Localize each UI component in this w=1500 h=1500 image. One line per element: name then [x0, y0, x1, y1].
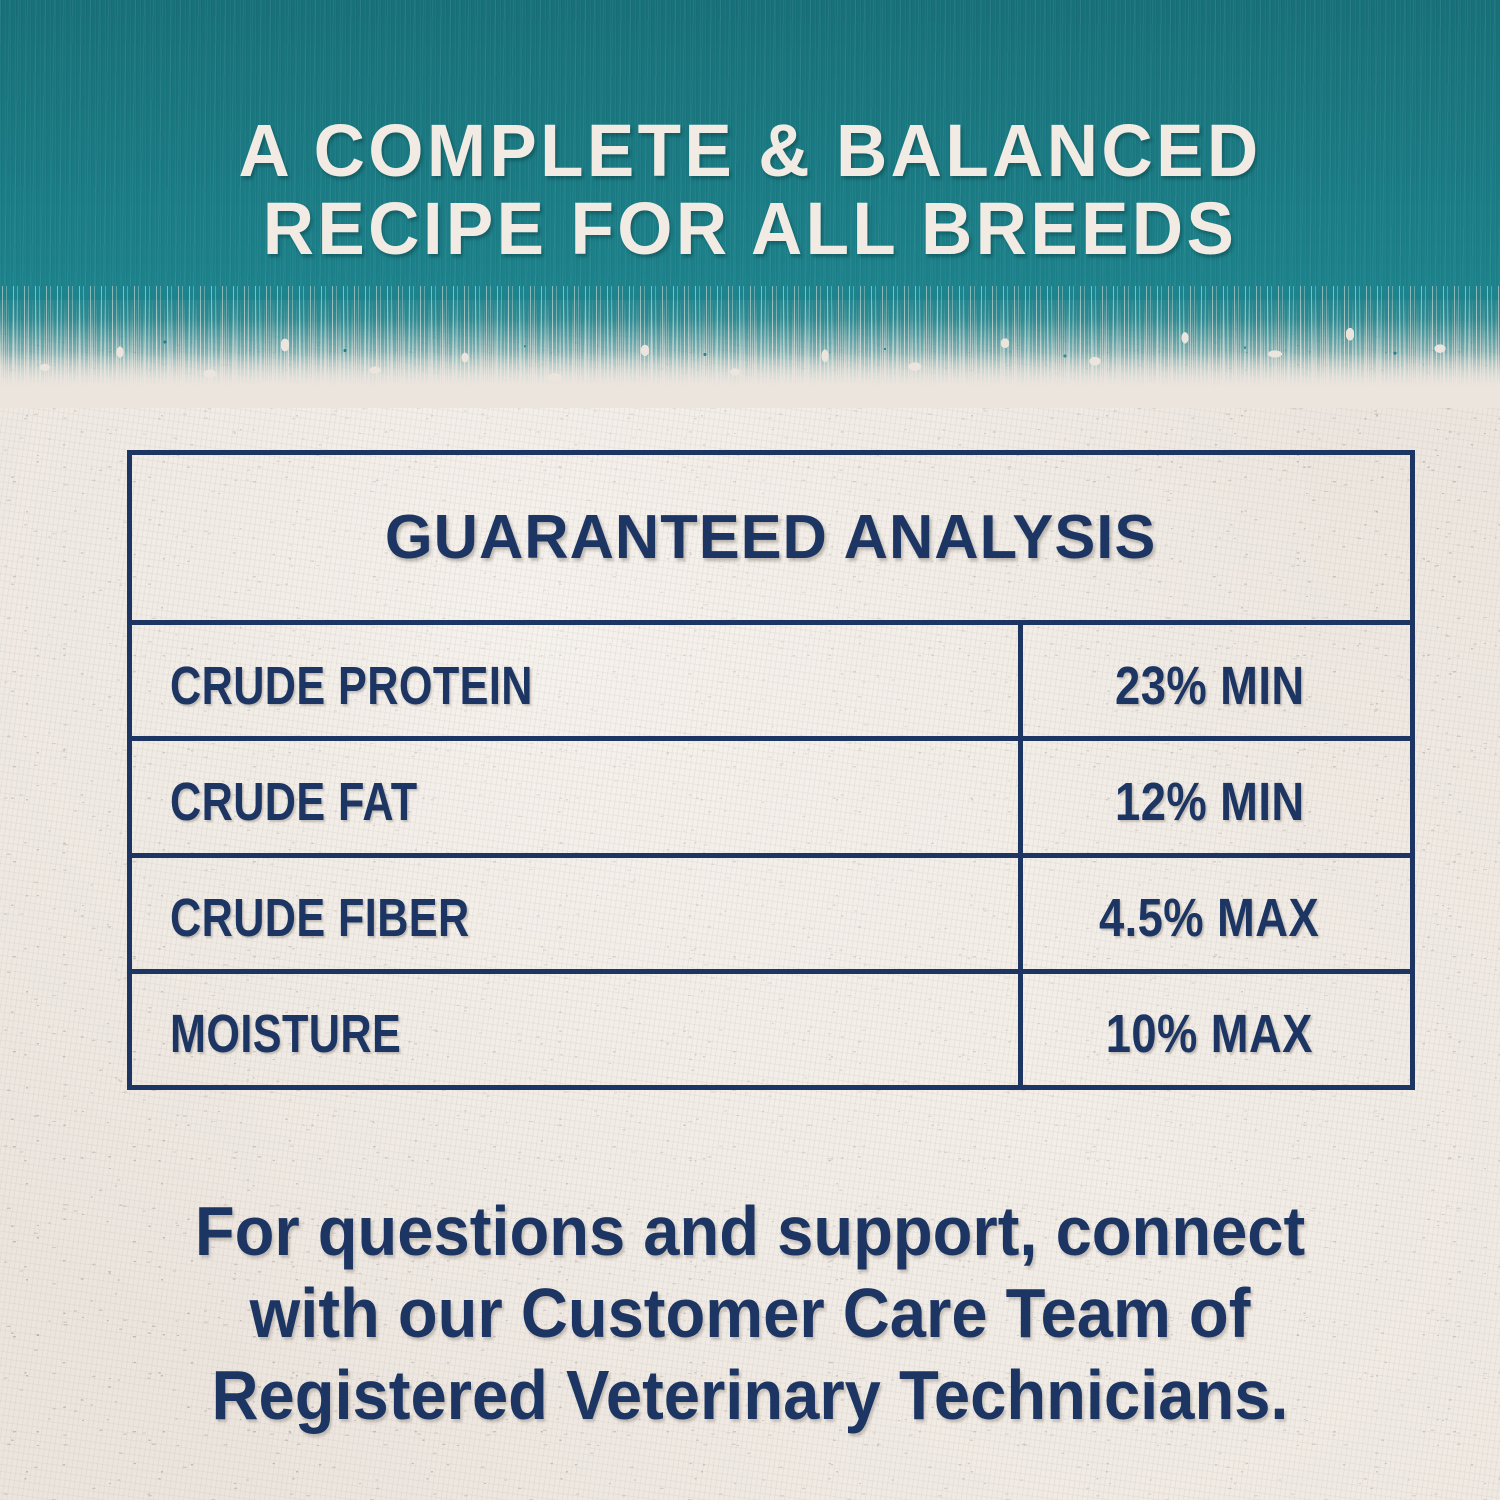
nutrient-label: MOISTURE	[170, 1003, 401, 1065]
teal-splatter-edge	[0, 318, 1500, 408]
support-line-3: Registered Veterinary Technicians.	[155, 1354, 1345, 1436]
nutrient-label-cell: CRUDE FAT	[132, 741, 1023, 852]
guaranteed-analysis-title: GUARANTEED ANALYSIS	[385, 502, 1156, 573]
nutrient-value-cell: 23% MIN	[1023, 625, 1410, 736]
nutrient-label-cell: CRUDE PROTEIN	[132, 625, 1023, 736]
nutrient-value-cell: 12% MIN	[1023, 741, 1410, 852]
guaranteed-analysis-table: GUARANTEED ANALYSIS CRUDE PROTEIN 23% MI…	[127, 450, 1415, 1090]
nutrient-label: CRUDE FAT	[170, 771, 418, 833]
nutrient-label-cell: MOISTURE	[132, 974, 1023, 1085]
support-line-1: For questions and support, connect	[155, 1190, 1345, 1272]
product-info-panel: A COMPLETE & BALANCED RECIPE FOR ALL BRE…	[0, 0, 1500, 1500]
customer-support-message: For questions and support, connect with …	[110, 1190, 1390, 1436]
table-row: CRUDE FAT 12% MIN	[132, 741, 1410, 857]
guaranteed-analysis-header: GUARANTEED ANALYSIS	[132, 455, 1410, 625]
hero-title: A COMPLETE & BALANCED RECIPE FOR ALL BRE…	[30, 112, 1470, 268]
table-row: MOISTURE 10% MAX	[132, 974, 1410, 1085]
table-row: CRUDE PROTEIN 23% MIN	[132, 625, 1410, 741]
support-line-2: with our Customer Care Team of	[155, 1272, 1345, 1354]
nutrient-label-cell: CRUDE FIBER	[132, 858, 1023, 969]
nutrient-value: 23% MIN	[1115, 655, 1304, 717]
table-row: CRUDE FIBER 4.5% MAX	[132, 858, 1410, 974]
hero-title-line-2: RECIPE FOR ALL BREEDS	[30, 190, 1470, 268]
nutrient-value: 10% MAX	[1106, 1003, 1313, 1065]
hero-title-line-1: A COMPLETE & BALANCED	[238, 109, 1261, 192]
nutrient-value: 4.5% MAX	[1099, 887, 1319, 949]
nutrient-value-cell: 10% MAX	[1023, 974, 1410, 1085]
nutrient-value-cell: 4.5% MAX	[1023, 858, 1410, 969]
nutrient-label: CRUDE FIBER	[170, 887, 470, 949]
guaranteed-analysis-body: CRUDE PROTEIN 23% MIN CRUDE FAT 12% MIN …	[132, 625, 1410, 1085]
nutrient-value: 12% MIN	[1115, 771, 1304, 833]
nutrient-label: CRUDE PROTEIN	[170, 655, 533, 717]
